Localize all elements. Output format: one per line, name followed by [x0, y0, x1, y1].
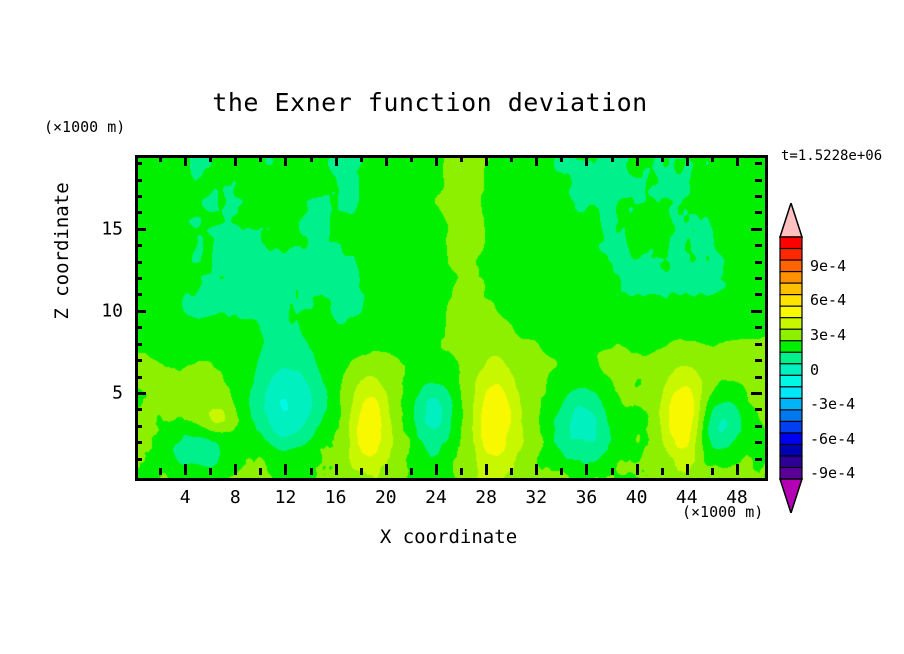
colorbar-band [780, 444, 802, 456]
x-ticklabel-24: 24 [425, 487, 447, 508]
z-tick-19 [135, 162, 142, 165]
x-tick-20 [385, 464, 388, 475]
page-title: the Exner function deviation [0, 88, 904, 117]
colorbar-label-3e-4: 3e-4 [810, 326, 846, 344]
colorbar-over-arrow [780, 203, 802, 237]
z-tick-11 [135, 293, 142, 296]
colorbar-band [780, 306, 802, 318]
x-tick-top-28 [485, 155, 488, 166]
x-tick-26 [460, 468, 463, 475]
z-ticklabel-15: 15 [77, 218, 123, 239]
y-axis-unit-label: (×1000 m) [44, 118, 125, 136]
z-ticklabel-5: 5 [77, 382, 123, 403]
x-tick-28 [485, 464, 488, 475]
z-tick-8 [135, 343, 142, 346]
z-tick-13 [135, 261, 142, 264]
x-axis-title: X coordinate [135, 526, 762, 548]
z-tick-6 [135, 376, 142, 379]
z-tick-5 [135, 392, 146, 395]
x-ticklabel-44: 44 [676, 487, 698, 508]
x-tick-36 [585, 464, 588, 475]
x-tick-30 [510, 468, 513, 475]
x-tick-top-44 [686, 155, 689, 166]
z-tick-right-18 [755, 179, 762, 182]
z-tick-18 [135, 179, 142, 182]
z-tick-9 [135, 326, 142, 329]
colorbar-band [780, 433, 802, 445]
colorbar [779, 203, 803, 513]
z-tick-12 [135, 277, 142, 280]
x-tick-top-48 [736, 155, 739, 166]
x-ticklabel-32: 32 [525, 487, 547, 508]
colorbar-band [780, 272, 802, 284]
x-tick-top-6 [209, 155, 212, 162]
x-tick-34 [560, 468, 563, 475]
colorbar-band [780, 329, 802, 341]
x-tick-12 [284, 464, 287, 475]
x-tick-top-30 [510, 155, 513, 162]
y-axis-title: Z coordinate [51, 171, 73, 331]
colorbar-band [780, 467, 802, 479]
x-tick-top-4 [184, 155, 187, 166]
colorbar-label-6e-4: 6e-4 [810, 291, 846, 309]
colorbar-band [780, 387, 802, 399]
z-tick-10 [135, 310, 146, 313]
z-tick-3 [135, 425, 142, 428]
x-tick-38 [611, 468, 614, 475]
colorbar-band [780, 260, 802, 272]
contour-plot-area [135, 155, 768, 481]
x-tick-top-40 [636, 155, 639, 166]
z-tick-right-3 [755, 425, 762, 428]
x-tick-32 [535, 464, 538, 475]
colorbar-band [780, 364, 802, 376]
colorbar-label-0: 0 [810, 361, 819, 379]
x-tick-48 [736, 464, 739, 475]
x-ticklabel-12: 12 [275, 487, 297, 508]
colorbar-label--6e-4: -6e-4 [810, 430, 855, 448]
z-tick-right-17 [755, 195, 762, 198]
z-tick-7 [135, 359, 142, 362]
colorbar-band [780, 295, 802, 307]
z-tick-right-4 [755, 408, 762, 411]
z-tick-right-5 [751, 392, 762, 395]
x-tick-top-24 [435, 155, 438, 166]
z-tick-right-1 [755, 458, 762, 461]
x-tick-16 [335, 464, 338, 475]
x-tick-top-10 [259, 155, 262, 162]
x-tick-top-18 [360, 155, 363, 162]
colorbar-label--3e-4: -3e-4 [810, 395, 855, 413]
colorbar-band [780, 398, 802, 410]
z-tick-right-10 [751, 310, 762, 313]
x-tick-top-22 [410, 155, 413, 162]
x-ticklabel-48: 48 [726, 487, 748, 508]
z-tick-4 [135, 408, 142, 411]
z-tick-right-12 [755, 277, 762, 280]
x-tick-top-8 [234, 155, 237, 166]
colorbar-label--9e-4: -9e-4 [810, 464, 855, 482]
x-tick-top-46 [711, 155, 714, 162]
z-tick-right-15 [751, 228, 762, 231]
z-tick-right-19 [755, 162, 762, 165]
z-tick-right-2 [755, 441, 762, 444]
x-tick-top-12 [284, 155, 287, 166]
colorbar-band [780, 318, 802, 330]
x-tick-44 [686, 464, 689, 475]
z-tick-2 [135, 441, 142, 444]
x-tick-18 [360, 468, 363, 475]
colorbar-band [780, 283, 802, 295]
z-tick-right-11 [755, 293, 762, 296]
x-tick-24 [435, 464, 438, 475]
x-tick-6 [209, 468, 212, 475]
x-tick-10 [259, 468, 262, 475]
z-tick-16 [135, 211, 142, 214]
x-tick-top-14 [310, 155, 313, 162]
x-ticklabel-36: 36 [576, 487, 598, 508]
colorbar-under-arrow [780, 479, 802, 513]
x-ticklabel-40: 40 [626, 487, 648, 508]
x-ticklabel-4: 4 [180, 487, 191, 508]
colorbar-band [780, 456, 802, 468]
z-tick-right-8 [755, 343, 762, 346]
x-tick-42 [661, 468, 664, 475]
x-tick-top-38 [611, 155, 614, 162]
x-tick-14 [310, 468, 313, 475]
x-tick-top-20 [385, 155, 388, 166]
colorbar-band [780, 352, 802, 364]
z-tick-14 [135, 244, 142, 247]
colorbar-label-9e-4: 9e-4 [810, 257, 846, 275]
colorbar-band [780, 421, 802, 433]
x-tick-top-16 [335, 155, 338, 166]
x-tick-2 [159, 468, 162, 475]
z-ticklabel-10: 10 [77, 300, 123, 321]
x-tick-4 [184, 464, 187, 475]
contour-field [138, 158, 765, 478]
x-tick-top-2 [159, 155, 162, 162]
x-tick-top-32 [535, 155, 538, 166]
x-ticklabel-28: 28 [475, 487, 497, 508]
z-tick-right-16 [755, 211, 762, 214]
x-tick-40 [636, 464, 639, 475]
x-tick-22 [410, 468, 413, 475]
x-ticklabel-16: 16 [325, 487, 347, 508]
x-ticklabel-20: 20 [375, 487, 397, 508]
colorbar-band [780, 375, 802, 387]
z-tick-right-13 [755, 261, 762, 264]
z-tick-17 [135, 195, 142, 198]
colorbar-band [780, 410, 802, 422]
x-tick-8 [234, 464, 237, 475]
x-tick-top-34 [560, 155, 563, 162]
x-tick-top-36 [585, 155, 588, 166]
colorbar-band [780, 237, 802, 249]
z-tick-1 [135, 458, 142, 461]
z-tick-15 [135, 228, 146, 231]
z-tick-right-6 [755, 376, 762, 379]
colorbar-band [780, 341, 802, 353]
x-tick-46 [711, 468, 714, 475]
x-tick-top-42 [661, 155, 664, 162]
z-tick-right-9 [755, 326, 762, 329]
colorbar-band [780, 249, 802, 261]
timestamp-annotation: t=1.5228e+06 [781, 148, 882, 164]
x-ticklabel-8: 8 [230, 487, 241, 508]
x-tick-top-26 [460, 155, 463, 162]
colorbar-svg [779, 203, 803, 513]
z-tick-right-7 [755, 359, 762, 362]
z-tick-right-14 [755, 244, 762, 247]
